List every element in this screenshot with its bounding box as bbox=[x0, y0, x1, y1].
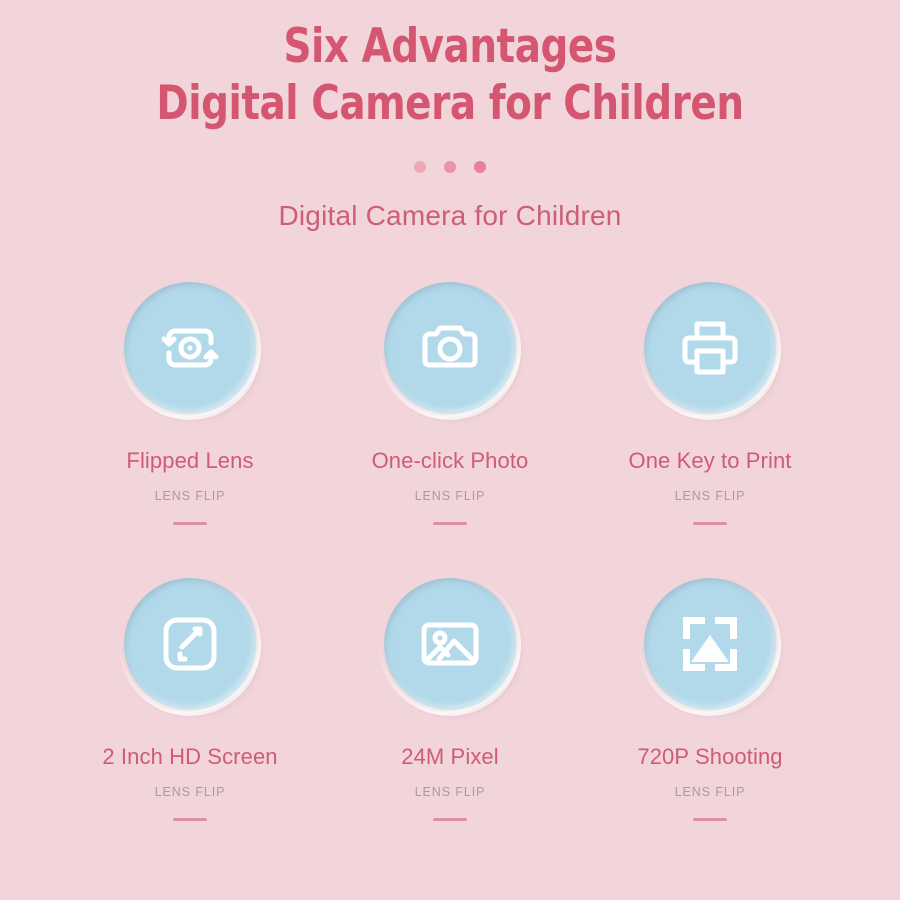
feature-icon-badge bbox=[122, 576, 258, 712]
feature-label: One-click Photo bbox=[372, 448, 529, 474]
page-subtitle: Digital Camera for Children bbox=[0, 200, 900, 232]
badge-circle bbox=[384, 578, 516, 710]
feature-item: 720P Shooting LENS FLIP bbox=[580, 576, 840, 872]
feature-item: Flipped Lens LENS FLIP bbox=[60, 280, 320, 576]
feature-divider bbox=[693, 818, 727, 821]
printer-icon bbox=[675, 313, 745, 383]
feature-sublabel: LENS FLIP bbox=[155, 489, 226, 503]
feature-divider bbox=[433, 522, 467, 525]
feature-sublabel: LENS FLIP bbox=[155, 785, 226, 799]
dot-dark-icon bbox=[474, 161, 486, 173]
feature-label: 720P Shooting bbox=[637, 744, 782, 770]
feature-label: Flipped Lens bbox=[126, 448, 253, 474]
feature-item: One-click Photo LENS FLIP bbox=[320, 280, 580, 576]
feature-sublabel: LENS FLIP bbox=[415, 785, 486, 799]
badge-circle bbox=[644, 578, 776, 710]
feature-item: 24M Pixel LENS FLIP bbox=[320, 576, 580, 872]
feature-divider bbox=[693, 522, 727, 525]
badge-circle bbox=[124, 282, 256, 414]
page-title-line-1: Six Advantages bbox=[36, 22, 864, 73]
page-header: Six Advantages Digital Camera for Childr… bbox=[0, 0, 900, 232]
feature-item: 2 Inch HD Screen LENS FLIP bbox=[60, 576, 320, 872]
page-title-line-2: Digital Camera for Children bbox=[36, 79, 864, 130]
feature-icon-badge bbox=[382, 280, 518, 416]
feature-label: One Key to Print bbox=[628, 448, 791, 474]
feature-sublabel: LENS FLIP bbox=[675, 489, 746, 503]
feature-icon-badge bbox=[642, 576, 778, 712]
feature-divider bbox=[173, 522, 207, 525]
feature-sublabel: LENS FLIP bbox=[675, 785, 746, 799]
promo-page: Six Advantages Digital Camera for Childr… bbox=[0, 0, 900, 900]
camera-icon bbox=[415, 313, 485, 383]
decorative-dots bbox=[0, 160, 900, 174]
feature-divider bbox=[173, 818, 207, 821]
feature-icon-badge bbox=[382, 576, 518, 712]
dot-light-icon bbox=[414, 161, 426, 173]
feature-icon-badge bbox=[122, 280, 258, 416]
dot-medium-icon bbox=[444, 161, 456, 173]
expand-screen-icon bbox=[155, 609, 225, 679]
feature-divider bbox=[433, 818, 467, 821]
feature-sublabel: LENS FLIP bbox=[415, 489, 486, 503]
flip-camera-icon bbox=[155, 313, 225, 383]
feature-label: 2 Inch HD Screen bbox=[102, 744, 277, 770]
feature-grid: Flipped Lens LENS FLIP One-click Photo L… bbox=[0, 280, 900, 872]
badge-circle bbox=[644, 282, 776, 414]
feature-item: One Key to Print LENS FLIP bbox=[580, 280, 840, 576]
feature-icon-badge bbox=[642, 280, 778, 416]
image-icon bbox=[415, 609, 485, 679]
badge-circle bbox=[384, 282, 516, 414]
scan-frame-icon bbox=[675, 609, 745, 679]
badge-circle bbox=[124, 578, 256, 710]
feature-label: 24M Pixel bbox=[401, 744, 499, 770]
